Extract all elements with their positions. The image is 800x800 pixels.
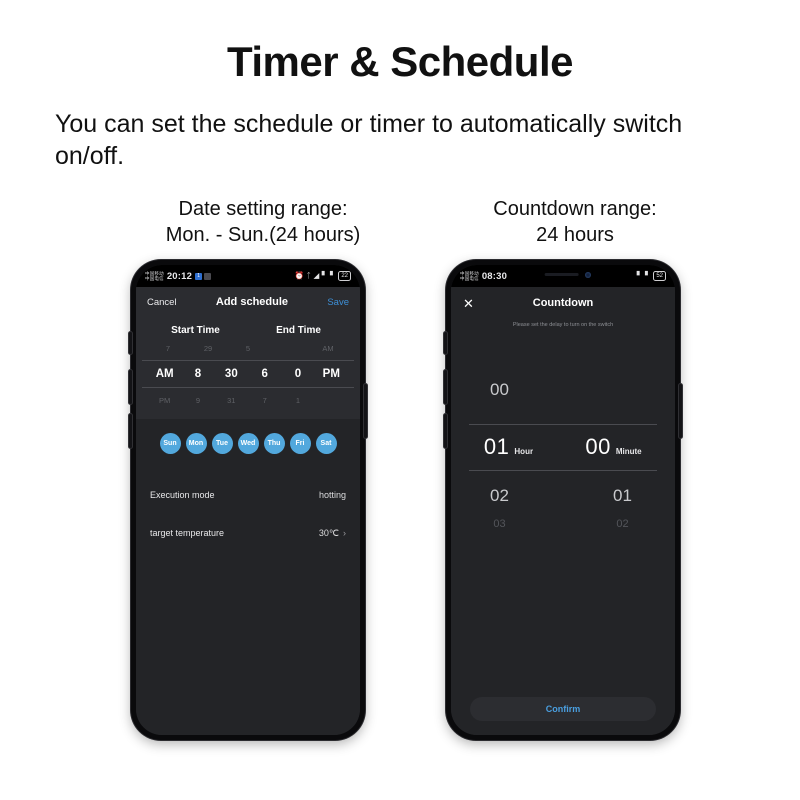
signal-icon: ▘: [330, 272, 336, 280]
minute-unit-label: Minute: [616, 447, 642, 456]
picker-cell: AM: [308, 344, 348, 353]
day-chip-tue[interactable]: Tue: [212, 433, 233, 454]
start-hour-value: 8: [181, 368, 214, 380]
day-chip-wed[interactable]: Wed: [238, 433, 259, 454]
countdown-row-next[interactable]: 02 01: [451, 471, 675, 506]
settings-list: Execution mode hotting target temperatur…: [136, 476, 360, 552]
alarm-icon: ⏰: [295, 272, 304, 280]
confirm-bar: Confirm: [451, 697, 675, 721]
page-root: Timer & Schedule You can set the schedul…: [0, 0, 800, 800]
hour-value-next: 02: [490, 486, 509, 506]
start-time-label: Start Time: [136, 325, 247, 336]
hour-column-selected: 01 Hour: [469, 434, 574, 460]
bluetooth-icon: ᛏ: [306, 272, 311, 280]
navbar-right: ✕ Countdown: [451, 287, 675, 319]
volume-up-button[interactable]: [444, 370, 447, 404]
volume-up-button[interactable]: [129, 370, 132, 404]
countdown-row-above[interactable]: 00: [451, 380, 675, 424]
minute-value-next: 01: [613, 486, 632, 506]
countdown-picker[interactable]: 00 01 Hour 00 Minute: [451, 380, 675, 570]
target-temperature-text: 30℃: [319, 528, 339, 539]
status-icons: ▘ ▘ 52: [637, 271, 666, 281]
silence-switch[interactable]: [444, 332, 447, 354]
phone-left: 中国移动 中国电信 20:12 1 ⏰ ᛏ ◢ ▘ ▘ 22: [131, 260, 365, 740]
close-icon[interactable]: ✕: [463, 297, 474, 310]
wifi-icon: ◢: [313, 272, 319, 280]
picker-cell: 5: [228, 344, 268, 353]
end-time-label: End Time: [247, 325, 360, 336]
picker-cell: 29: [188, 344, 228, 353]
screen-title: Add schedule: [177, 296, 328, 308]
cancel-button[interactable]: Cancel: [147, 297, 177, 308]
volume-down-button[interactable]: [444, 414, 447, 448]
countdown-hint: Please set the delay to turn on the swit…: [451, 319, 675, 328]
day-chip-sat[interactable]: Sat: [316, 433, 337, 454]
status-bar-left: 中国移动 中国电信 20:12 1 ⏰ ᛏ ◢ ▘ ▘ 22: [136, 265, 360, 287]
row-execution-mode[interactable]: Execution mode hotting: [136, 476, 360, 514]
carrier-label: 中国移动 中国电信: [460, 271, 479, 281]
execution-mode-label: Execution mode: [150, 490, 215, 500]
hour-column-far: 03: [451, 518, 574, 530]
minute-column-far: 02: [574, 518, 675, 530]
picker-row-selected[interactable]: AM 8 30 6 0 PM: [142, 360, 354, 388]
caption-left-line1: Date setting range:: [118, 196, 408, 222]
countdown-row-far[interactable]: 03 02: [451, 506, 675, 530]
front-camera-icon: [585, 272, 591, 278]
caption-right-line2: 24 hours: [440, 222, 710, 248]
end-meridiem-value: PM: [315, 368, 348, 380]
battery-indicator: 22: [338, 271, 351, 281]
carrier-label: 中国移动 中国电信: [145, 271, 164, 281]
phone-right: 中国移动 中国电信 08:30 ▘ ▘ 52 ✕ Countdown: [446, 260, 680, 740]
row-target-temperature[interactable]: target temperature 30℃ ›: [136, 514, 360, 552]
minute-value: 00: [585, 434, 610, 460]
day-chip-thu[interactable]: Thu: [264, 433, 285, 454]
chevron-right-icon: ›: [343, 528, 346, 538]
hour-value-above: 00: [490, 380, 509, 400]
navbar-left: Cancel Add schedule Save: [136, 287, 360, 317]
picker-cell: PM: [148, 396, 181, 405]
picker-cell: 7: [248, 396, 281, 405]
signal-icon: ▘: [322, 272, 328, 280]
save-button[interactable]: Save: [327, 297, 349, 308]
time-picker-headers: Start Time End Time: [136, 323, 360, 339]
picker-row-above[interactable]: 7 29 5 AM: [136, 339, 360, 357]
day-chip-fri[interactable]: Fri: [290, 433, 311, 454]
signal-icon: ▘: [645, 272, 651, 280]
caption-right: Countdown range: 24 hours: [440, 196, 710, 248]
hour-value: 01: [484, 434, 509, 460]
end-hour-value: 6: [248, 368, 281, 380]
phone-left-screen: 中国移动 中国电信 20:12 1 ⏰ ᛏ ◢ ▘ ▘ 22: [136, 265, 360, 735]
countdown-app: ✕ Countdown Please set the delay to turn…: [451, 287, 675, 735]
volume-down-button[interactable]: [129, 414, 132, 448]
day-chip-list: Sun Mon Tue Wed Thu Fri Sat: [136, 433, 360, 454]
caption-left-line2: Mon. - Sun.(24 hours): [118, 222, 408, 248]
time-picker[interactable]: Start Time End Time 7 29 5 AM AM 8 30: [136, 317, 360, 419]
start-meridiem-value: AM: [148, 368, 181, 380]
minute-column-selected: 00 Minute: [574, 434, 657, 460]
status-time: 20:12: [167, 271, 192, 282]
notch: [217, 268, 279, 279]
picker-cell: 31: [215, 396, 248, 405]
carrier-line2: 中国电信: [145, 276, 164, 281]
add-schedule-app: Cancel Add schedule Save Start Time End …: [136, 287, 360, 735]
page-subtitle: You can set the schedule or timer to aut…: [55, 108, 755, 172]
power-button[interactable]: [679, 384, 682, 438]
target-temperature-value: 30℃ ›: [319, 528, 346, 539]
status-time: 08:30: [482, 271, 507, 282]
app-badge-icon: 1: [195, 273, 202, 280]
target-temperature-label: target temperature: [150, 528, 224, 538]
signal-icon: ▘: [637, 272, 643, 280]
earpiece-speaker: [545, 273, 579, 276]
caption-right-line1: Countdown range:: [440, 196, 710, 222]
minute-column-next: 01: [574, 486, 675, 506]
screen-title: Countdown: [451, 297, 675, 309]
picker-cell: 1: [281, 396, 314, 405]
picker-row-below[interactable]: PM 9 31 7 1: [136, 391, 360, 409]
picker-cell: 7: [148, 344, 188, 353]
hour-unit-label: Hour: [514, 447, 533, 456]
execution-mode-value: hotting: [319, 490, 346, 500]
secondary-badge-icon: [204, 273, 211, 280]
battery-indicator: 52: [653, 271, 666, 281]
confirm-button[interactable]: Confirm: [470, 697, 656, 721]
day-chip-mon[interactable]: Mon: [186, 433, 207, 454]
status-bar-right: 中国移动 中国电信 08:30 ▘ ▘ 52: [451, 265, 675, 287]
end-minute-value: 0: [281, 368, 314, 380]
hour-value-far: 03: [493, 518, 505, 530]
start-minute-value: 30: [215, 368, 248, 380]
caption-left: Date setting range: Mon. - Sun.(24 hours…: [118, 196, 408, 248]
picker-cell: 9: [181, 396, 214, 405]
hour-column-next: 02: [451, 486, 574, 506]
silence-switch[interactable]: [129, 332, 132, 354]
minute-column-above: [574, 380, 675, 424]
page-title: Timer & Schedule: [0, 38, 800, 86]
day-chip-sun[interactable]: Sun: [160, 433, 181, 454]
day-selector: Sun Mon Tue Wed Thu Fri Sat: [136, 419, 360, 466]
minute-value-far: 02: [616, 518, 628, 530]
power-button[interactable]: [364, 384, 367, 438]
hour-column-above: 00: [451, 380, 574, 424]
phone-right-screen: 中国移动 中国电信 08:30 ▘ ▘ 52 ✕ Countdown: [451, 265, 675, 735]
countdown-row-selected[interactable]: 01 Hour 00 Minute: [469, 424, 657, 471]
status-icons: ⏰ ᛏ ◢ ▘ ▘ 22: [295, 271, 351, 281]
carrier-line2: 中国电信: [460, 276, 479, 281]
